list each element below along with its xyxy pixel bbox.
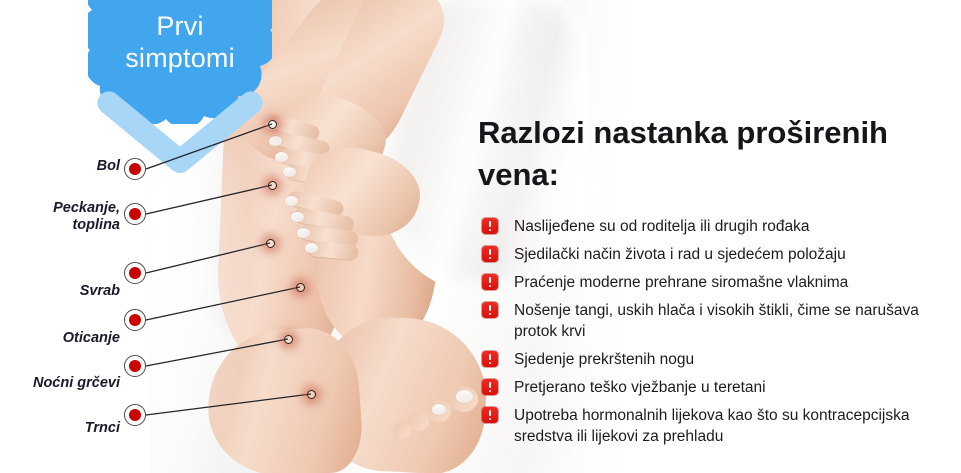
warning-exclamation-icon	[482, 274, 498, 290]
symptom-marker-nocni-grcevi[interactable]	[124, 355, 146, 377]
symptom-label-trnci: Trnci	[14, 420, 120, 437]
list-item: Pretjerano teško vježbanje u teretani	[478, 377, 958, 398]
symptom-label-nocni-grcevi: Noćni grčevi	[4, 375, 120, 392]
leg-anchor-dot-3	[266, 239, 275, 248]
warning-exclamation-icon	[482, 302, 498, 318]
warning-exclamation-icon	[482, 246, 498, 262]
leg-anchor-dot-2	[268, 181, 277, 190]
list-item: Upotreba hormonalnih lijekova kao što su…	[478, 405, 958, 447]
page-title: Razlozi nastanka proširenih vena:	[478, 112, 958, 196]
list-item: Praćenje moderne prehrane siromašne vlak…	[478, 272, 958, 293]
reasons-list: Naslijeđene su od roditelja ili drugih r…	[478, 216, 958, 447]
symptom-label-bol: Bol	[14, 158, 120, 175]
warning-exclamation-icon	[482, 407, 498, 423]
symptom-label-oticanje: Oticanje	[14, 330, 120, 347]
symptom-label-peckanje-toplina: Peckanje, toplina	[14, 200, 120, 234]
symptom-marker-oticanje[interactable]	[124, 309, 146, 331]
list-item-text: Sjedenje prekrštenih nogu	[514, 351, 694, 368]
symptom-marker-bol[interactable]	[124, 158, 146, 180]
list-item-text: Sjedilački način života i rad u sjedećem…	[514, 246, 846, 263]
symptom-label-svrab: Svrab	[14, 283, 120, 300]
symptom-marker-trnci[interactable]	[124, 404, 146, 426]
list-item: Sjedilački način života i rad u sjedećem…	[478, 244, 958, 265]
list-item: Sjedenje prekrštenih nogu	[478, 349, 958, 370]
list-item: Naslijeđene su od roditelja ili drugih r…	[478, 216, 958, 237]
warning-exclamation-icon	[482, 218, 498, 234]
list-item-text: Naslijeđene su od roditelja ili drugih r…	[514, 218, 810, 235]
list-item: Nošenje tangi, uskih hlača i visokih šti…	[478, 300, 958, 342]
warning-exclamation-icon	[482, 351, 498, 367]
connector-line-2	[146, 185, 272, 214]
leg-anchor-dot-5	[284, 335, 293, 344]
list-item-text: Upotreba hormonalnih lijekova kao što su…	[514, 407, 909, 445]
connector-line-3	[146, 243, 270, 273]
leg-anchor-dot-6	[307, 390, 316, 399]
leg-anchor-dot-4	[296, 283, 305, 292]
connector-line-6	[146, 394, 311, 415]
connector-line-1	[146, 124, 272, 169]
connector-line-4	[146, 287, 300, 320]
leg-anchor-dot-1	[268, 120, 277, 129]
warning-exclamation-icon	[482, 379, 498, 395]
symptom-marker-svrab[interactable]	[124, 262, 146, 284]
infographic-root: Prvi simptomi Bol Peckanje, toplina Svra…	[0, 0, 961, 473]
connector-line-5	[146, 339, 288, 366]
list-item-text: Praćenje moderne prehrane siromašne vlak…	[514, 274, 848, 291]
symptom-marker-peckanje-toplina[interactable]	[124, 203, 146, 225]
list-item-text: Nošenje tangi, uskih hlača i visokih šti…	[514, 302, 919, 340]
reasons-panel: Razlozi nastanka proširenih vena: Naslij…	[478, 112, 958, 454]
list-item-text: Pretjerano teško vježbanje u teretani	[514, 379, 766, 396]
